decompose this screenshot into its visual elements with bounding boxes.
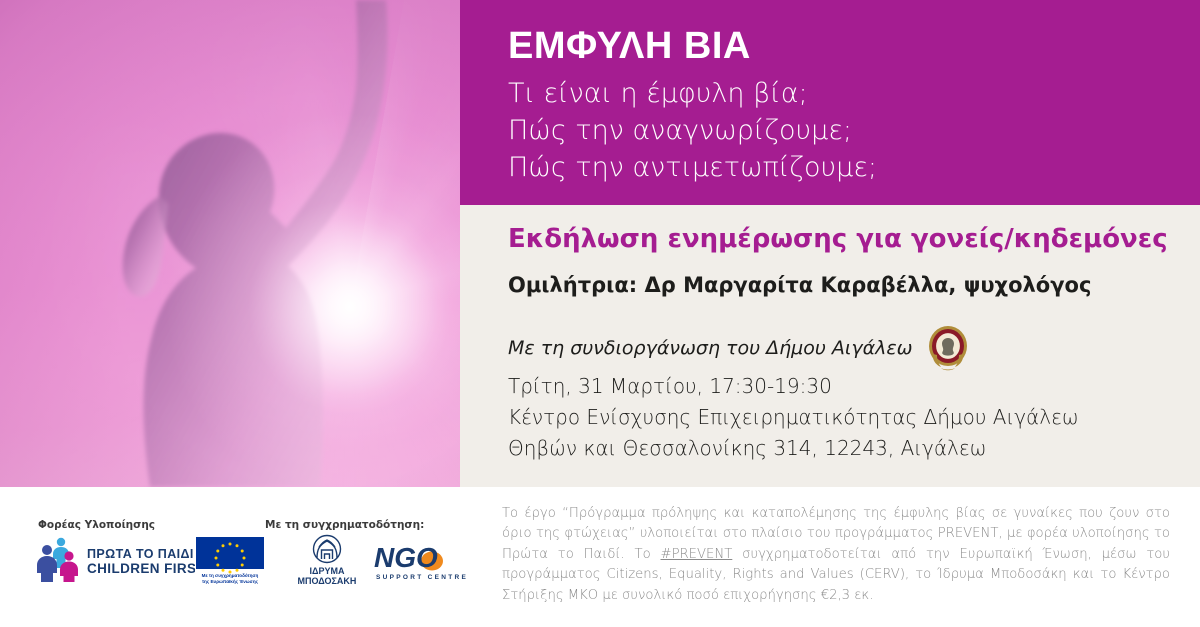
header-subtitle-line-3: Πώς την αντιμετωπίζουμε; [508,150,877,187]
header-subtitle-line-2: Πώς την αναγνωρίζουμε; [508,113,877,150]
poster-root: ΕΜΦΥΛΗ ΒΙΑ Τι είναι η έμφυλη βία; Πώς τη… [0,0,1200,627]
municipality-emblem-icon [927,324,969,372]
ptp-logo-line2: CHILDREN FIRST [87,561,195,576]
footer-logos: Φορέας Υλοποίησης Με τη συγχρηματοδότηση… [0,487,495,627]
event-info-panel: Εκδήλωση ενημέρωσης για γονείς/κηδεμόνες… [460,205,1200,487]
hero-photo [0,0,460,487]
ngo-support-centre-logo: NGO SUPPORT CENTRE [370,536,472,586]
ngo-logo-line1: NGO [374,542,438,573]
page-title: ΕΜΦΥΛΗ ΒΙΑ [508,26,751,68]
bodossaki-foundation-logo: ΙΔΡΥΜΑ ΜΠΟΔΟΣΑΚΗ [288,534,366,586]
bodossaki-logo-line2: ΜΠΟΔΟΣΑΚΗ [298,576,357,586]
prevent-hashtag-link[interactable]: #PREVENT [661,547,733,562]
eu-caption-line1: Με τη συγχρηματοδότηση [202,573,259,578]
funding-disclaimer: Το έργο “Πρόγραμμα πρόληψης και καταπολέ… [502,504,1170,606]
event-datetime: Τρίτη, 31 Μαρτίου, 17:30-19:30 [508,371,1079,402]
eu-caption-line2: της Ευρωπαϊκής Ένωσης [202,579,259,585]
event-details-list: Τρίτη, 31 Μαρτίου, 17:30-19:30 Κέντρο Εν… [508,371,1079,464]
coorganizer-row: Με τη συνδιοργάνωση του Δήμου Αιγάλεω [508,324,969,372]
prota-to-paidi-logo: ΠΡΩΤΑ ΤΟ ΠΑΙΔΙ CHILDREN FIRST [35,536,195,582]
event-address: Θηβών και Θεσσαλονίκης 314, 12243, Αιγάλ… [508,433,1079,464]
speaker-line: Ομιλήτρια: Δρ Μαργαρίτα Καραβέλλα, ψυχολ… [508,273,1091,297]
ptp-logo-line1: ΠΡΩΤΑ ΤΟ ΠΑΙΔΙ [87,547,194,561]
footer: Φορέας Υλοποίησης Με τη συγχρηματοδότηση… [0,487,1200,627]
photo-vignette [0,0,460,487]
ngo-logo-line2: SUPPORT CENTRE [376,574,468,581]
event-headline: Εκδήλωση ενημέρωσης για γονείς/κηδεμόνες [508,224,1168,254]
coorganizer-text: Με τη συνδιοργάνωση του Δήμου Αιγάλεω [508,337,913,359]
bodossaki-logo-line1: ΙΔΡΥΜΑ [310,566,345,576]
european-union-logo: Με τη συγχρηματοδότηση της Ευρωπαϊκής Έν… [190,537,270,585]
header-subtitle-list: Τι είναι η έμφυλη βία; Πώς την αναγνωρίζ… [508,76,877,187]
event-venue: Κέντρο Ενίσχυσης Επιχειρηματικότητας Δήμ… [508,402,1079,433]
header-banner: ΕΜΦΥΛΗ ΒΙΑ Τι είναι η έμφυλη βία; Πώς τη… [460,0,1200,205]
cofunding-caption: Με τη συγχρηματοδότηση: [265,519,424,531]
implementer-caption: Φορέας Υλοποίησης [38,519,155,531]
header-subtitle-line-1: Τι είναι η έμφυλη βία; [508,76,877,113]
